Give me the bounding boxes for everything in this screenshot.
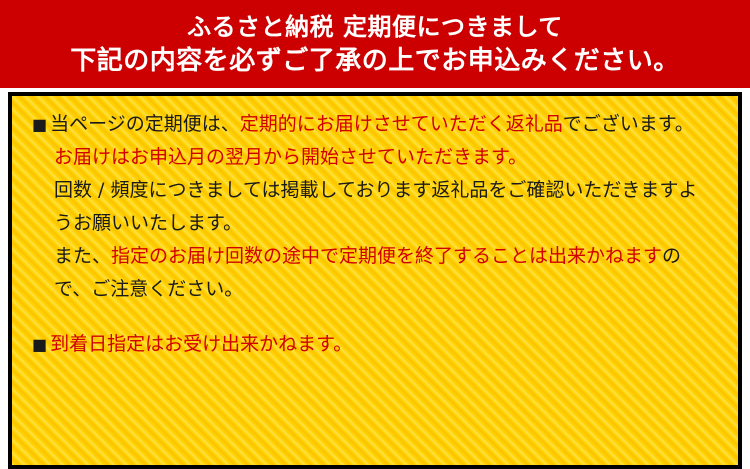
notice-item-spacer <box>32 306 730 328</box>
notice-line: 回数 / 頻度につきましては掲載しております返礼品をご確認いただきますよ <box>32 174 730 207</box>
notice-text: でございます。 <box>563 113 694 135</box>
header-banner: ふるさと納税 定期便につきまして 下記の内容を必ずご了承の上でお申込みください。 <box>0 0 750 88</box>
notice-text: うお願いいたします。 <box>54 212 242 234</box>
notice-item-first-line: ■当ページの定期便は、定期的にお届けさせていただく返礼品でございます。 <box>32 108 730 141</box>
notice-panel: ■当ページの定期便は、定期的にお届けさせていただく返礼品でございます。お届けはお… <box>8 92 742 469</box>
notice-text: で、ご注意ください。 <box>54 278 243 300</box>
notice-line: お届けはお申込月の翌月から開始させていただきます。 <box>32 141 730 174</box>
notice-line: うお願いいたします。 <box>32 207 730 240</box>
square-bullet-icon: ■ <box>32 108 47 141</box>
square-bullet-icon: ■ <box>32 328 47 361</box>
notice-line: で、ご注意ください。 <box>32 273 730 306</box>
notice-text-highlight: 指定のお届け回数の途中で定期便を終了することは出来かねます <box>111 245 662 267</box>
notice-body: ■当ページの定期便は、定期的にお届けさせていただく返礼品でございます。お届けはお… <box>32 108 730 361</box>
notice-text-highlight: お届けはお申込月の翌月から開始させていただきます。 <box>54 146 527 168</box>
notice-text: また、 <box>54 245 111 267</box>
notice-page: ふるさと納税 定期便につきまして 下記の内容を必ずご了承の上でお申込みください。… <box>0 0 750 465</box>
header-title-line-2: 下記の内容を必ずご了承の上でお申込みください。 <box>70 48 680 74</box>
notice-text: の <box>662 245 681 267</box>
notice-text: 回数 / 頻度につきましては掲載しております返礼品をご確認いただきますよ <box>54 179 697 201</box>
header-title-line-1: ふるさと納税 定期便につきまして <box>187 15 563 39</box>
notice-line: また、指定のお届け回数の途中で定期便を終了することは出来かねますの <box>32 240 730 273</box>
notice-line: 到着日指定はお受け出来かねます。 <box>50 328 352 361</box>
notice-text-highlight: 定期的にお届けさせていただく返礼品 <box>240 113 563 135</box>
notice-item-first-line: ■到着日指定はお受け出来かねます。 <box>32 328 730 361</box>
notice-text: 当ページの定期便は、 <box>50 113 240 135</box>
notice-line: 当ページの定期便は、定期的にお届けさせていただく返礼品でございます。 <box>50 108 694 141</box>
notice-text-highlight: 到着日指定はお受け出来かねます。 <box>50 333 352 355</box>
